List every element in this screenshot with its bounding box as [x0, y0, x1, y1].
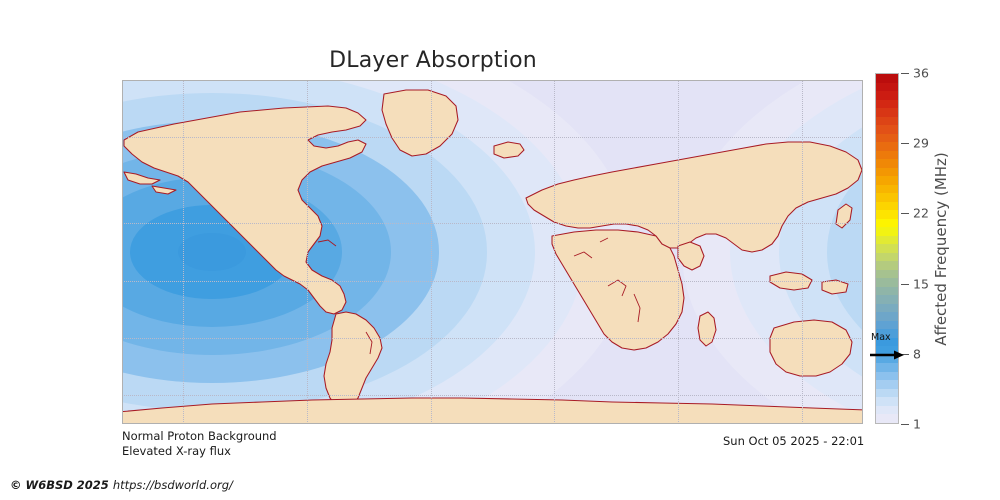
colorbar-band — [876, 83, 898, 92]
gridline-lon-6 — [802, 80, 803, 424]
colorbar-band — [876, 142, 898, 151]
dlayer-absorption-map-page: DLayer Absorption — [0, 0, 1000, 500]
gridline-lat-30s — [122, 338, 863, 339]
colorbar-band — [876, 193, 898, 202]
colorbar-tick-mark — [901, 143, 909, 144]
colorbar-band — [876, 91, 898, 100]
colorbar-band — [876, 202, 898, 211]
colorbar-band — [876, 312, 898, 321]
colorbar-band — [876, 304, 898, 313]
colorbar-band — [876, 278, 898, 287]
colorbar-tick-label: 36 — [913, 66, 929, 81]
max-marker-arrow-icon — [870, 346, 910, 365]
colorbar-band — [876, 244, 898, 253]
colorbar-band — [876, 176, 898, 185]
max-marker: Max — [869, 334, 915, 358]
gridline-lat-60s — [122, 395, 863, 396]
colorbar-gradient — [875, 73, 899, 424]
credit-footer: © W6BSD 2025 https://bsdworld.org/ — [10, 478, 233, 492]
colorbar-band — [876, 414, 898, 423]
gridline-lon-1 — [183, 80, 184, 424]
colorbar-band — [876, 125, 898, 134]
colorbar-band — [876, 168, 898, 177]
colorbar-band — [876, 287, 898, 296]
colorbar-tick-mark — [901, 73, 909, 74]
status-notes: Normal Proton Background Elevated X-ray … — [122, 429, 277, 459]
colorbar-band — [876, 261, 898, 270]
colorbar-band — [876, 117, 898, 126]
colorbar-tick-label: 29 — [913, 136, 929, 151]
colorbar-band — [876, 74, 898, 83]
gridline-lon-2 — [307, 80, 308, 424]
colorbar-band — [876, 108, 898, 117]
colorbar-band — [876, 185, 898, 194]
gridline-lat-30n — [122, 223, 863, 224]
colorbar-band — [876, 380, 898, 389]
colorbar-axis-label-text: Affected Frequency (MHz) — [932, 152, 950, 346]
credit-url[interactable]: https://bsdworld.org/ — [113, 478, 233, 492]
colorbar-tick-label: 22 — [913, 206, 929, 221]
colorbar-band — [876, 100, 898, 109]
world-map-plot[interactable] — [122, 80, 863, 424]
timestamp-label: Sun Oct 05 2025 - 22:01 — [723, 434, 864, 448]
colorbar-band — [876, 236, 898, 245]
colorbar-band — [876, 227, 898, 236]
colorbar-band — [876, 372, 898, 381]
coastline-layer — [122, 80, 863, 424]
colorbar-tick-label: 1 — [913, 417, 921, 432]
gridline-lon-4 — [554, 80, 555, 424]
colorbar-tick-mark — [901, 284, 909, 285]
colorbar-band — [876, 270, 898, 279]
colorbar-tick-label: 15 — [913, 276, 929, 291]
colorbar-tick-mark — [901, 213, 909, 214]
xray-status-text: Elevated X-ray flux — [122, 444, 277, 459]
gridline-lat-eq — [122, 281, 863, 282]
credit-owner: © W6BSD 2025 — [10, 478, 109, 492]
colorbar-band — [876, 159, 898, 168]
gridline-lon-5 — [678, 80, 679, 424]
proton-status-text: Normal Proton Background — [122, 429, 277, 444]
colorbar-axis-label: Affected Frequency (MHz) — [929, 73, 953, 424]
colorbar[interactable] — [875, 73, 899, 424]
page-title: DLayer Absorption — [0, 48, 866, 73]
colorbar-band — [876, 253, 898, 262]
colorbar-band — [876, 397, 898, 406]
gridline-lon-3 — [431, 80, 432, 424]
colorbar-band — [876, 321, 898, 330]
colorbar-band — [876, 406, 898, 415]
colorbar-tick-mark — [901, 424, 909, 425]
colorbar-band — [876, 134, 898, 143]
colorbar-band — [876, 389, 898, 398]
colorbar-band — [876, 219, 898, 228]
colorbar-band — [876, 210, 898, 219]
colorbar-band — [876, 151, 898, 160]
max-marker-label: Max — [871, 332, 891, 343]
gridline-lat-60n — [122, 137, 863, 138]
colorbar-band — [876, 295, 898, 304]
